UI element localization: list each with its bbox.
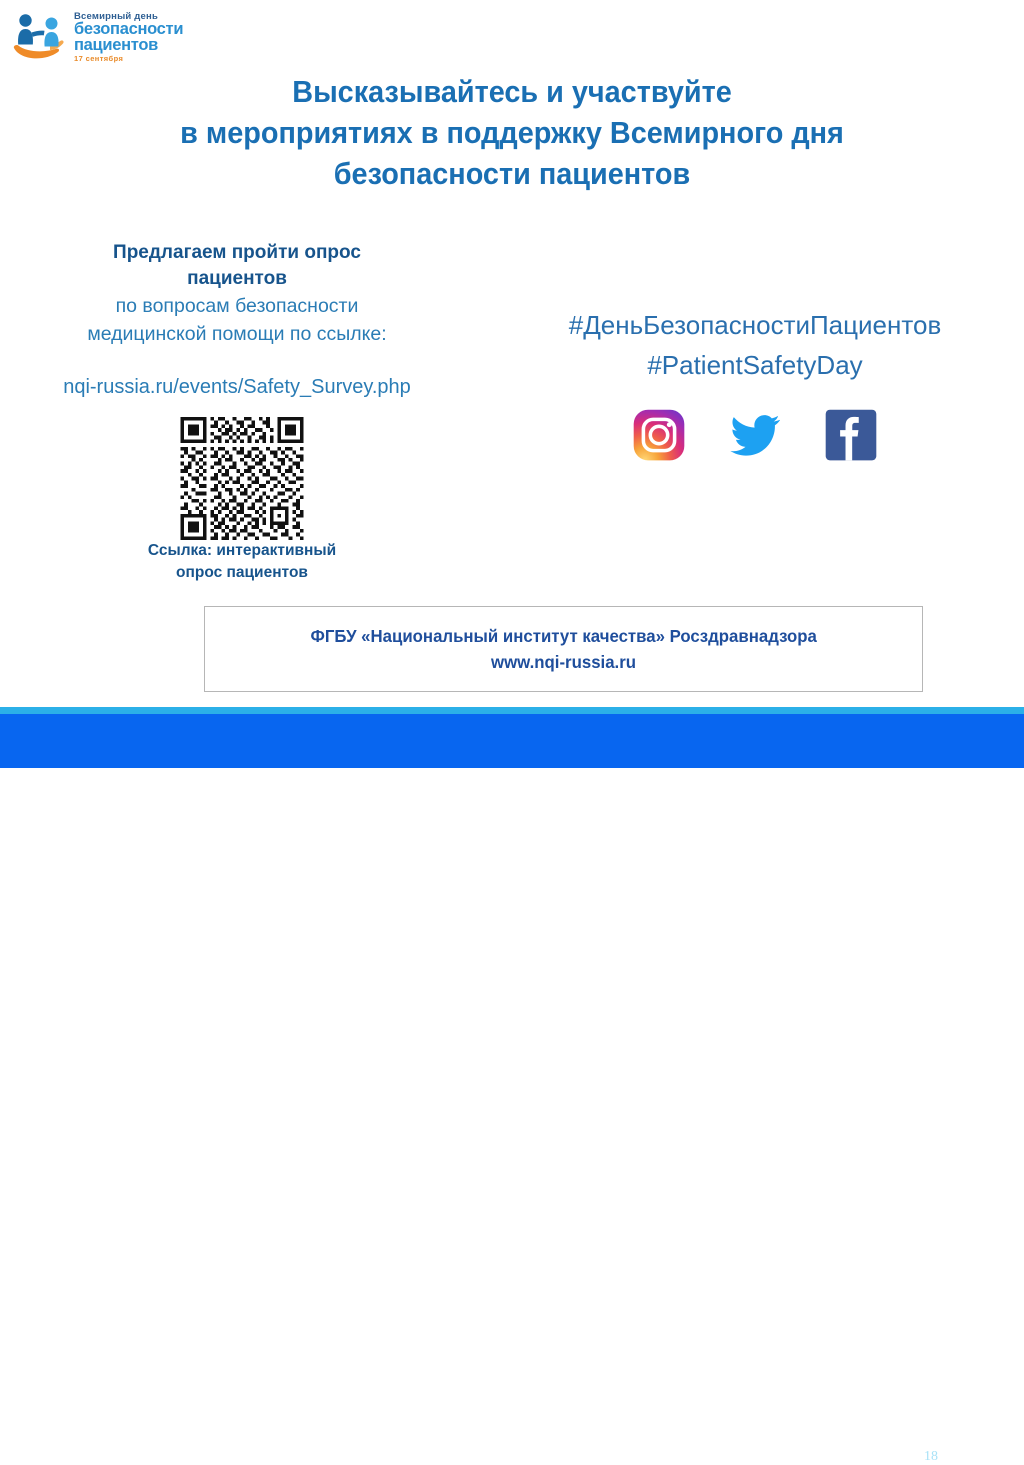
qr-caption-line-1: Ссылка: интерактивный xyxy=(42,540,442,562)
logo-line-4-date: 17 сентября xyxy=(74,55,183,63)
twitter-icon[interactable] xyxy=(728,408,782,462)
survey-url-link[interactable]: nqi-russia.ru/events/Safety_Survey.php xyxy=(12,374,462,400)
social-links-row xyxy=(620,406,890,464)
facebook-icon[interactable] xyxy=(824,408,878,462)
hashtags-block: #ДеньБезопасностиПациентов #PatientSafet… xyxy=(495,305,1015,386)
hashtag-ru: #ДеньБезопасностиПациентов xyxy=(495,305,1015,345)
page-number: 18 xyxy=(924,1449,938,1465)
footer-accent-stripe xyxy=(0,707,1024,714)
survey-subtext-line-2: медицинской помощи по ссылке: xyxy=(12,321,462,348)
survey-heading-line-1: Предлагаем пройти опрос xyxy=(12,240,462,266)
survey-heading-line-2: пациентов xyxy=(12,266,462,292)
survey-invitation-block: Предлагаем пройти опрос пациентов по воп… xyxy=(12,240,462,400)
footer-bar: 18 xyxy=(0,714,1024,768)
slide-title-line-2: в мероприятиях в поддержку Всемирного дн… xyxy=(101,113,923,154)
logo-wordmark: Всемирный день безопасности пациентов 17… xyxy=(74,11,183,62)
qr-code-caption: Ссылка: интерактивный опрос пациентов xyxy=(42,540,442,584)
logo-line-3: пациентов xyxy=(74,38,183,54)
organization-box: ФГБУ «Национальный институт качества» Ро… xyxy=(204,606,923,692)
instagram-icon[interactable] xyxy=(632,408,686,462)
organization-website[interactable]: www.nqi-russia.ru xyxy=(491,649,636,675)
slide-canvas: Всемирный день безопасности пациентов 17… xyxy=(0,0,1024,768)
logo-figures-icon xyxy=(10,10,68,64)
hashtag-en: #PatientSafetyDay xyxy=(495,345,1015,385)
slide-title: Высказывайтесь и участвуйте в мероприяти… xyxy=(101,72,923,195)
survey-subtext-line-1: по вопросам безопасности xyxy=(12,293,462,320)
slide-title-line-3: безопасности пациентов xyxy=(101,154,923,195)
survey-qr-code[interactable] xyxy=(168,417,316,540)
organization-name: ФГБУ «Национальный институт качества» Ро… xyxy=(310,623,816,649)
slide-title-line-1: Высказывайтесь и участвуйте xyxy=(101,72,923,113)
world-patient-safety-day-logo: Всемирный день безопасности пациентов 17… xyxy=(10,8,225,66)
qr-caption-line-2: опрос пациентов xyxy=(42,562,442,584)
